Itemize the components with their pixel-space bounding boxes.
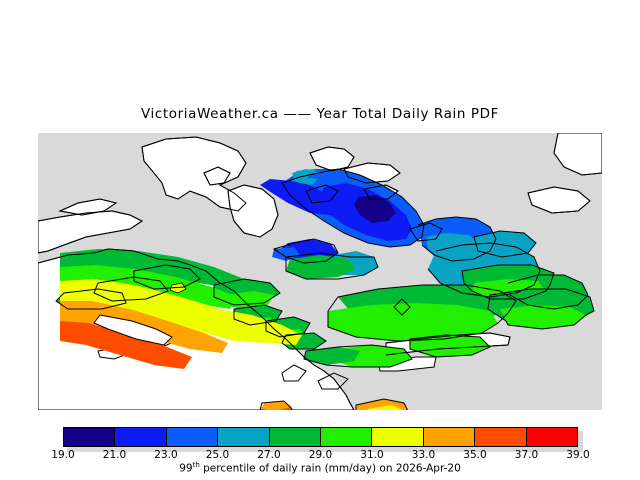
colorbar-tick-19.0: 19.0 xyxy=(51,449,74,461)
colorbar-tick-27.0: 27.0 xyxy=(257,449,280,461)
colorbar-tick-25.0: 25.0 xyxy=(206,449,229,461)
colorbar-band-21.0-23.0[interactable] xyxy=(115,428,166,446)
colorbar-tick-21.0: 21.0 xyxy=(103,449,126,461)
caption-rest: percentile of daily rain (mm/day) on 202… xyxy=(200,463,461,475)
colorbar-band-31.0-33.0[interactable] xyxy=(372,428,423,446)
colorbar-band-23.0-25.0[interactable] xyxy=(167,428,218,446)
colorbar-caption: 99th percentile of daily rain (mm/day) o… xyxy=(0,461,640,475)
page-title: VictoriaWeather.ca —— Year Total Daily R… xyxy=(0,106,640,122)
colorbar-band-29.0-31.0[interactable] xyxy=(321,428,372,446)
colorbar-tick-35.0: 35.0 xyxy=(463,449,486,461)
colorbar-band-25.0-27.0[interactable] xyxy=(218,428,269,446)
colorbar[interactable] xyxy=(63,427,578,447)
caption-superscript: th xyxy=(193,461,200,469)
colorbar-tick-29.0: 29.0 xyxy=(309,449,332,461)
colorbar-tick-39.0: 39.0 xyxy=(566,449,589,461)
colorbar-bands[interactable] xyxy=(63,427,578,447)
plot-page: VictoriaWeather.ca —— Year Total Daily R… xyxy=(0,0,640,480)
colorbar-tick-31.0: 31.0 xyxy=(360,449,383,461)
colorbar-tick-33.0: 33.0 xyxy=(412,449,435,461)
colorbar-band-19.0-21.0[interactable] xyxy=(64,428,115,446)
colorbar-tick-23.0: 23.0 xyxy=(154,449,177,461)
caption-prefix: 99 xyxy=(179,463,192,475)
colorbar-tick-37.0: 37.0 xyxy=(515,449,538,461)
colorbar-band-27.0-29.0[interactable] xyxy=(270,428,321,446)
map-panel[interactable] xyxy=(38,133,602,410)
colorbar-band-35.0-37.0[interactable] xyxy=(475,428,526,446)
map-canvas[interactable] xyxy=(38,133,602,410)
colorbar-band-37.0-39.0[interactable] xyxy=(527,428,577,446)
colorbar-band-33.0-35.0[interactable] xyxy=(424,428,475,446)
